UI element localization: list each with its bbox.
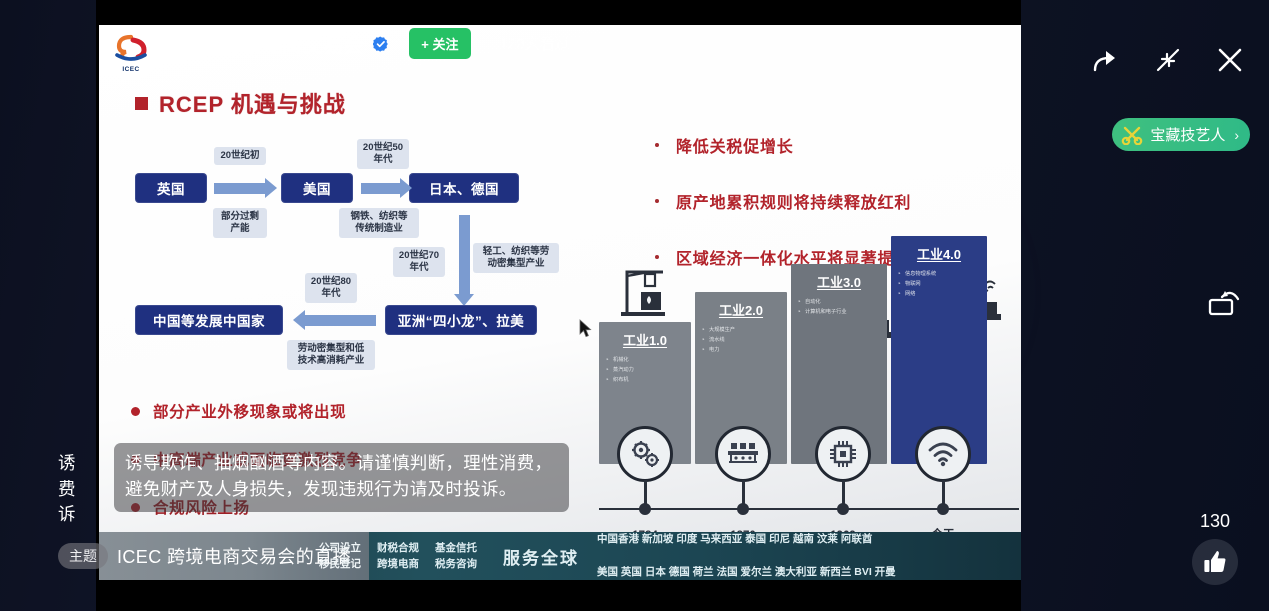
flow-node-asia-label: 亚洲“四小龙”、拉美 bbox=[398, 310, 525, 330]
industry-bar-3-label: 工业4.0 bbox=[891, 244, 987, 263]
flow-arrow-us-to-japan bbox=[361, 183, 401, 194]
industry-bar-1-bullets: 大规模生产 流水线 电力 bbox=[695, 326, 787, 356]
caption-overhang-text: 诱费诉 bbox=[58, 443, 116, 538]
industry-bar-2-bullets: 自动化 计算机和电子行业 bbox=[791, 298, 887, 318]
flow-node-japan-germany: 日本、德国 bbox=[409, 173, 519, 203]
industry-bar-2-label: 工业3.0 bbox=[791, 272, 887, 291]
close-icon[interactable] bbox=[1210, 40, 1250, 80]
flow-node-us: 美国 bbox=[281, 173, 353, 203]
rail-top-actions bbox=[1086, 40, 1250, 80]
bullet-dot-icon bbox=[655, 199, 659, 203]
flow-label-era-early: 20世纪初 bbox=[214, 147, 266, 165]
like-section: 130 bbox=[1184, 511, 1246, 585]
bullet-left-0: 部分产业外移现象或将出现 bbox=[131, 400, 362, 422]
flow-label-era-50s: 20世纪50 年代 bbox=[357, 139, 409, 169]
treasure-artisan-label: 宝藏技艺人 bbox=[1150, 124, 1225, 145]
chevron-right-icon: › bbox=[1234, 127, 1239, 143]
timeline-node-0 bbox=[639, 503, 651, 515]
bullet-left-0-text: 部分产业外移现象或将出现 bbox=[153, 400, 346, 422]
scissors-icon bbox=[1121, 125, 1143, 145]
flow-label-era-80s: 20世纪80 年代 bbox=[305, 273, 357, 303]
wifi-icon bbox=[915, 426, 971, 482]
footer-countries-row-1: 中国香港 新加坡 印度 马来西亚 泰国 印尼 越南 汶莱 阿联酋 bbox=[597, 532, 896, 548]
flow-label-japan-capacity: 轻工、纺织等劳 动密集型产业 bbox=[473, 243, 559, 273]
flow-node-china: 中国等发展中国家 bbox=[135, 305, 283, 335]
mouse-cursor-icon bbox=[579, 319, 592, 338]
thumbs-up-icon[interactable] bbox=[1192, 539, 1238, 585]
flow-node-us-label: 美国 bbox=[303, 178, 331, 198]
industry-bar-3-bullets: 信息物理系统 物联网 网络 bbox=[891, 270, 987, 300]
flow-arrow-uk-to-us bbox=[214, 183, 266, 194]
footer-countries-row-2: 美国 英国 日本 德国 荷兰 法国 爱尔兰 澳大利亚 新西兰 BVI 开曼 bbox=[597, 564, 896, 580]
collapse-arrows-icon[interactable] bbox=[1148, 40, 1188, 80]
industry-evolution-chart: ERP 工业1.0 机械化 蒸汽动力 织布机 bbox=[599, 250, 1019, 550]
footer-col-3: 基金信托 税务咨询 bbox=[427, 540, 485, 573]
industry-bar-0-label: 工业1.0 bbox=[599, 330, 691, 349]
share-icon[interactable] bbox=[1086, 40, 1126, 80]
live-stream-window: RCEP 机遇与挑战 英国 美国 日本、德国 20世纪初 部 bbox=[0, 0, 1269, 611]
flow-node-uk-label: 英国 bbox=[157, 178, 185, 198]
icec-logo-icon: ICEC bbox=[111, 34, 151, 74]
bullet-right-1: 原产地累积规则将持续释放红利 bbox=[655, 189, 911, 213]
caption-overlay: 诱导欺诈、抽烟酗酒等内容。请谨慎判断，理性消费，避免财产及人身损失，发现违规行为… bbox=[114, 443, 569, 512]
industry-bar-0-bullets: 机械化 蒸汽动力 织布机 bbox=[599, 356, 691, 386]
channel-avatar[interactable]: ICEC bbox=[105, 28, 157, 80]
icec-logo-text: ICEC bbox=[111, 66, 151, 73]
flow-label-era-70s: 20世纪70 年代 bbox=[393, 247, 445, 277]
timeline-node-3 bbox=[937, 503, 949, 515]
channel-subtitle: 公众号·中国重庆跨境电商交易会 bbox=[171, 63, 570, 83]
bullet-dot-icon bbox=[131, 407, 140, 416]
treasure-artisan-badge[interactable]: 宝藏技艺人 › bbox=[1112, 118, 1250, 151]
like-count: 130 bbox=[1200, 511, 1230, 532]
gears-icon bbox=[617, 426, 673, 482]
right-rail: 宝藏技艺人 › bbox=[1021, 0, 1269, 611]
industrial-transfer-flow-diagram: 英国 美国 日本、德国 20世纪初 部分过剩 产能 20世纪50 年代 钢铁、纺… bbox=[121, 125, 601, 375]
flow-label-us-capacity: 钢铁、纺织等 传统制造业 bbox=[339, 208, 419, 238]
viewer-count: 120人看过 bbox=[500, 33, 570, 54]
verified-badge-icon bbox=[373, 36, 389, 52]
slide-footer-strip: 公司设立 移民登记 财税合规 跨境电商 基金信托 税务咨询 服务全球 中国香港 … bbox=[99, 532, 1021, 580]
channel-name: ICEC跨境电商交易会 bbox=[171, 29, 364, 58]
footer-countries: 中国香港 新加坡 印度 马来西亚 泰国 印尼 越南 汶莱 阿联酋 美国 英国 日… bbox=[597, 532, 896, 580]
timeline-node-1 bbox=[737, 503, 749, 515]
channel-name-row: ICEC跨境电商交易会 + 关注 120人看过 bbox=[171, 28, 570, 59]
timeline-node-2 bbox=[837, 503, 849, 515]
bullet-dot-icon bbox=[655, 143, 659, 147]
flow-node-uk: 英国 bbox=[135, 173, 207, 203]
industry-bar-1-label: 工业2.0 bbox=[695, 300, 787, 319]
stream-header: ICEC ICEC跨境电商交易会 + 关注 120人看过 公众号·中国重庆跨境电… bbox=[96, 22, 1021, 100]
flow-node-china-label: 中国等发展中国家 bbox=[153, 310, 265, 330]
flow-arrow-japan-to-asia bbox=[459, 215, 470, 295]
flow-label-asia-capacity: 劳动密集型和低 技术高消耗产业 bbox=[287, 340, 375, 370]
channel-info: ICEC跨境电商交易会 + 关注 120人看过 公众号·中国重庆跨境电商交易会 bbox=[171, 22, 570, 83]
steam-engine-icon bbox=[619, 262, 681, 320]
rotate-screen-icon[interactable] bbox=[1204, 283, 1246, 325]
bullet-right-0: 降低关税促增长 bbox=[655, 133, 911, 157]
footer-col-1: 公司设立 移民登记 bbox=[311, 540, 369, 573]
footer-col-2: 财税合规 跨境电商 bbox=[369, 540, 427, 573]
bullet-right-1-text: 原产地累积规则将持续释放红利 bbox=[676, 189, 911, 213]
footer-headline: 服务全球 bbox=[485, 544, 597, 569]
flow-label-uk-capacity: 部分过剩 产能 bbox=[213, 208, 267, 238]
bullet-right-0-text: 降低关税促增长 bbox=[676, 133, 794, 157]
microchip-icon bbox=[815, 426, 871, 482]
flow-node-japan-germany-label: 日本、德国 bbox=[429, 178, 499, 198]
flow-node-asia: 亚洲“四小龙”、拉美 bbox=[385, 305, 537, 335]
flow-arrow-asia-to-china bbox=[304, 315, 376, 326]
follow-button[interactable]: + 关注 bbox=[409, 28, 470, 59]
conveyor-belt-icon bbox=[715, 426, 771, 482]
timeline-axis bbox=[599, 508, 1019, 511]
